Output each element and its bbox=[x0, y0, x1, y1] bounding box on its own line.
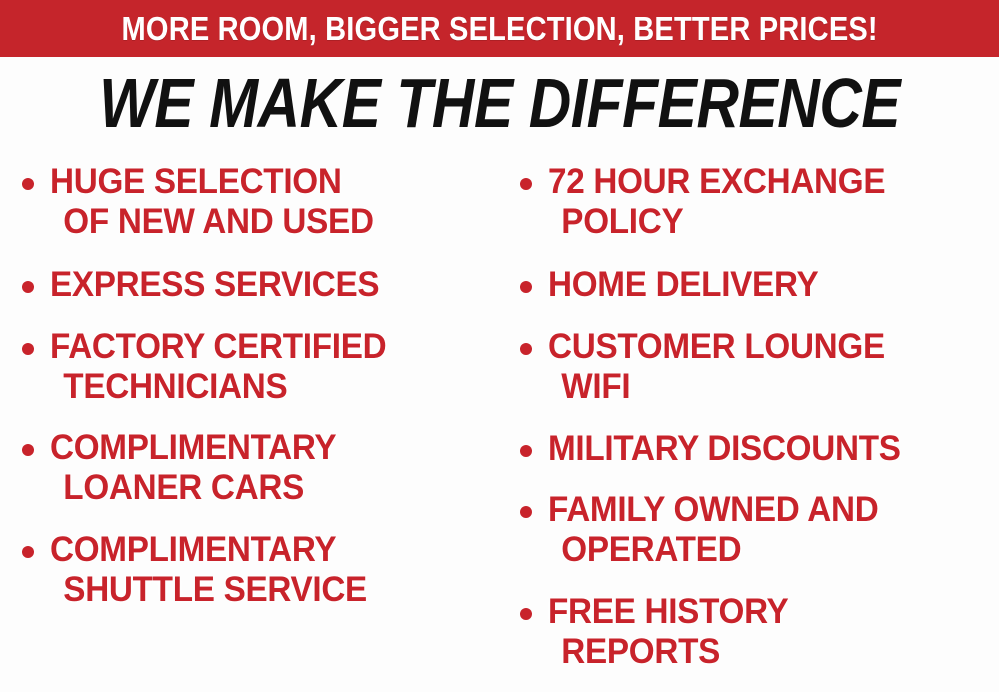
bullet-dot-icon bbox=[520, 506, 532, 518]
list-item-line1: 72 HOUR EXCHANGE bbox=[548, 162, 885, 201]
list-item-line2: OPERATED bbox=[548, 530, 878, 570]
list-item-line1: COMPLIMENTARY bbox=[50, 428, 336, 467]
bullet-dot-icon bbox=[22, 444, 34, 456]
list-item-text: COMPLIMENTARY LOANER CARS bbox=[50, 428, 336, 508]
list-item: COMPLIMENTARY SHUTTLE SERVICE bbox=[22, 530, 384, 610]
list-item-line2: TECHNICIANS bbox=[50, 367, 386, 407]
list-item-text: MILITARY DISCOUNTS bbox=[548, 429, 901, 469]
list-item-line1: FAMILY OWNED AND bbox=[548, 490, 878, 529]
list-item-line2: POLICY bbox=[548, 202, 885, 242]
list-item-text: EXPRESS SERVICES bbox=[50, 265, 379, 305]
bullet-dot-icon bbox=[22, 343, 34, 355]
list-item: HOME DELIVERY bbox=[520, 265, 833, 305]
list-item-text: HUGE SELECTION OF NEW AND USED bbox=[50, 162, 374, 242]
headline-container: WE MAKE THE DIFFERENCE bbox=[0, 63, 999, 143]
list-item: CUSTOMER LOUNGE WIFI bbox=[520, 327, 903, 407]
list-item-line1: COMPLIMENTARY bbox=[50, 530, 336, 569]
banner-headline-text: MORE ROOM, BIGGER SELECTION, BETTER PRIC… bbox=[121, 12, 877, 45]
list-item-line2: OF NEW AND USED bbox=[50, 202, 374, 242]
list-item: FREE HISTORY REPORTS bbox=[520, 592, 801, 672]
bullet-dot-icon bbox=[22, 546, 34, 558]
list-item: HUGE SELECTION OF NEW AND USED bbox=[22, 162, 391, 242]
list-item-text: 72 HOUR EXCHANGE POLICY bbox=[548, 162, 885, 242]
bullet-dot-icon bbox=[520, 445, 532, 457]
top-banner: MORE ROOM, BIGGER SELECTION, BETTER PRIC… bbox=[0, 0, 999, 57]
benefits-column-right: 72 HOUR EXCHANGE POLICY HOME DELIVERY CU… bbox=[514, 152, 999, 692]
list-item: EXPRESS SERVICES bbox=[22, 265, 397, 305]
list-item: FACTORY CERTIFIED TECHNICIANS bbox=[22, 327, 404, 407]
advertisement-poster: MORE ROOM, BIGGER SELECTION, BETTER PRIC… bbox=[0, 0, 999, 692]
bullet-dot-icon bbox=[520, 281, 532, 293]
list-item-line1: FREE HISTORY bbox=[548, 592, 788, 631]
main-headline: WE MAKE THE DIFFERENCE bbox=[99, 68, 900, 138]
list-item: MILITARY DISCOUNTS bbox=[520, 429, 919, 469]
bullet-dot-icon bbox=[520, 343, 532, 355]
list-item-text: COMPLIMENTARY SHUTTLE SERVICE bbox=[50, 530, 367, 610]
bullet-dot-icon bbox=[22, 281, 34, 293]
list-item-line1: FACTORY CERTIFIED bbox=[50, 327, 386, 366]
list-item: COMPLIMENTARY LOANER CARS bbox=[22, 428, 351, 508]
list-item-line2: REPORTS bbox=[548, 632, 788, 672]
bullet-dot-icon bbox=[22, 178, 34, 190]
list-item-line2: WIFI bbox=[548, 367, 885, 407]
list-item-line2: LOANER CARS bbox=[50, 468, 336, 508]
list-item-line2: SHUTTLE SERVICE bbox=[50, 570, 367, 610]
list-item-line1: EXPRESS SERVICES bbox=[50, 265, 379, 304]
list-item-text: FACTORY CERTIFIED TECHNICIANS bbox=[50, 327, 386, 407]
list-item: 72 HOUR EXCHANGE POLICY bbox=[520, 162, 903, 242]
list-item-text: FAMILY OWNED AND OPERATED bbox=[548, 490, 878, 570]
benefits-columns: HUGE SELECTION OF NEW AND USED EXPRESS S… bbox=[0, 152, 999, 692]
list-item-line1: HOME DELIVERY bbox=[548, 265, 818, 304]
list-item-text: HOME DELIVERY bbox=[548, 265, 818, 305]
list-item-line1: CUSTOMER LOUNGE bbox=[548, 327, 885, 366]
benefits-column-left: HUGE SELECTION OF NEW AND USED EXPRESS S… bbox=[16, 152, 506, 692]
list-item-line1: MILITARY DISCOUNTS bbox=[548, 429, 901, 468]
list-item-line1: HUGE SELECTION bbox=[50, 162, 342, 201]
list-item: FAMILY OWNED AND OPERATED bbox=[520, 490, 896, 570]
list-item-text: FREE HISTORY REPORTS bbox=[548, 592, 788, 672]
bullet-dot-icon bbox=[520, 608, 532, 620]
list-item-text: CUSTOMER LOUNGE WIFI bbox=[548, 327, 885, 407]
bullet-dot-icon bbox=[520, 178, 532, 190]
